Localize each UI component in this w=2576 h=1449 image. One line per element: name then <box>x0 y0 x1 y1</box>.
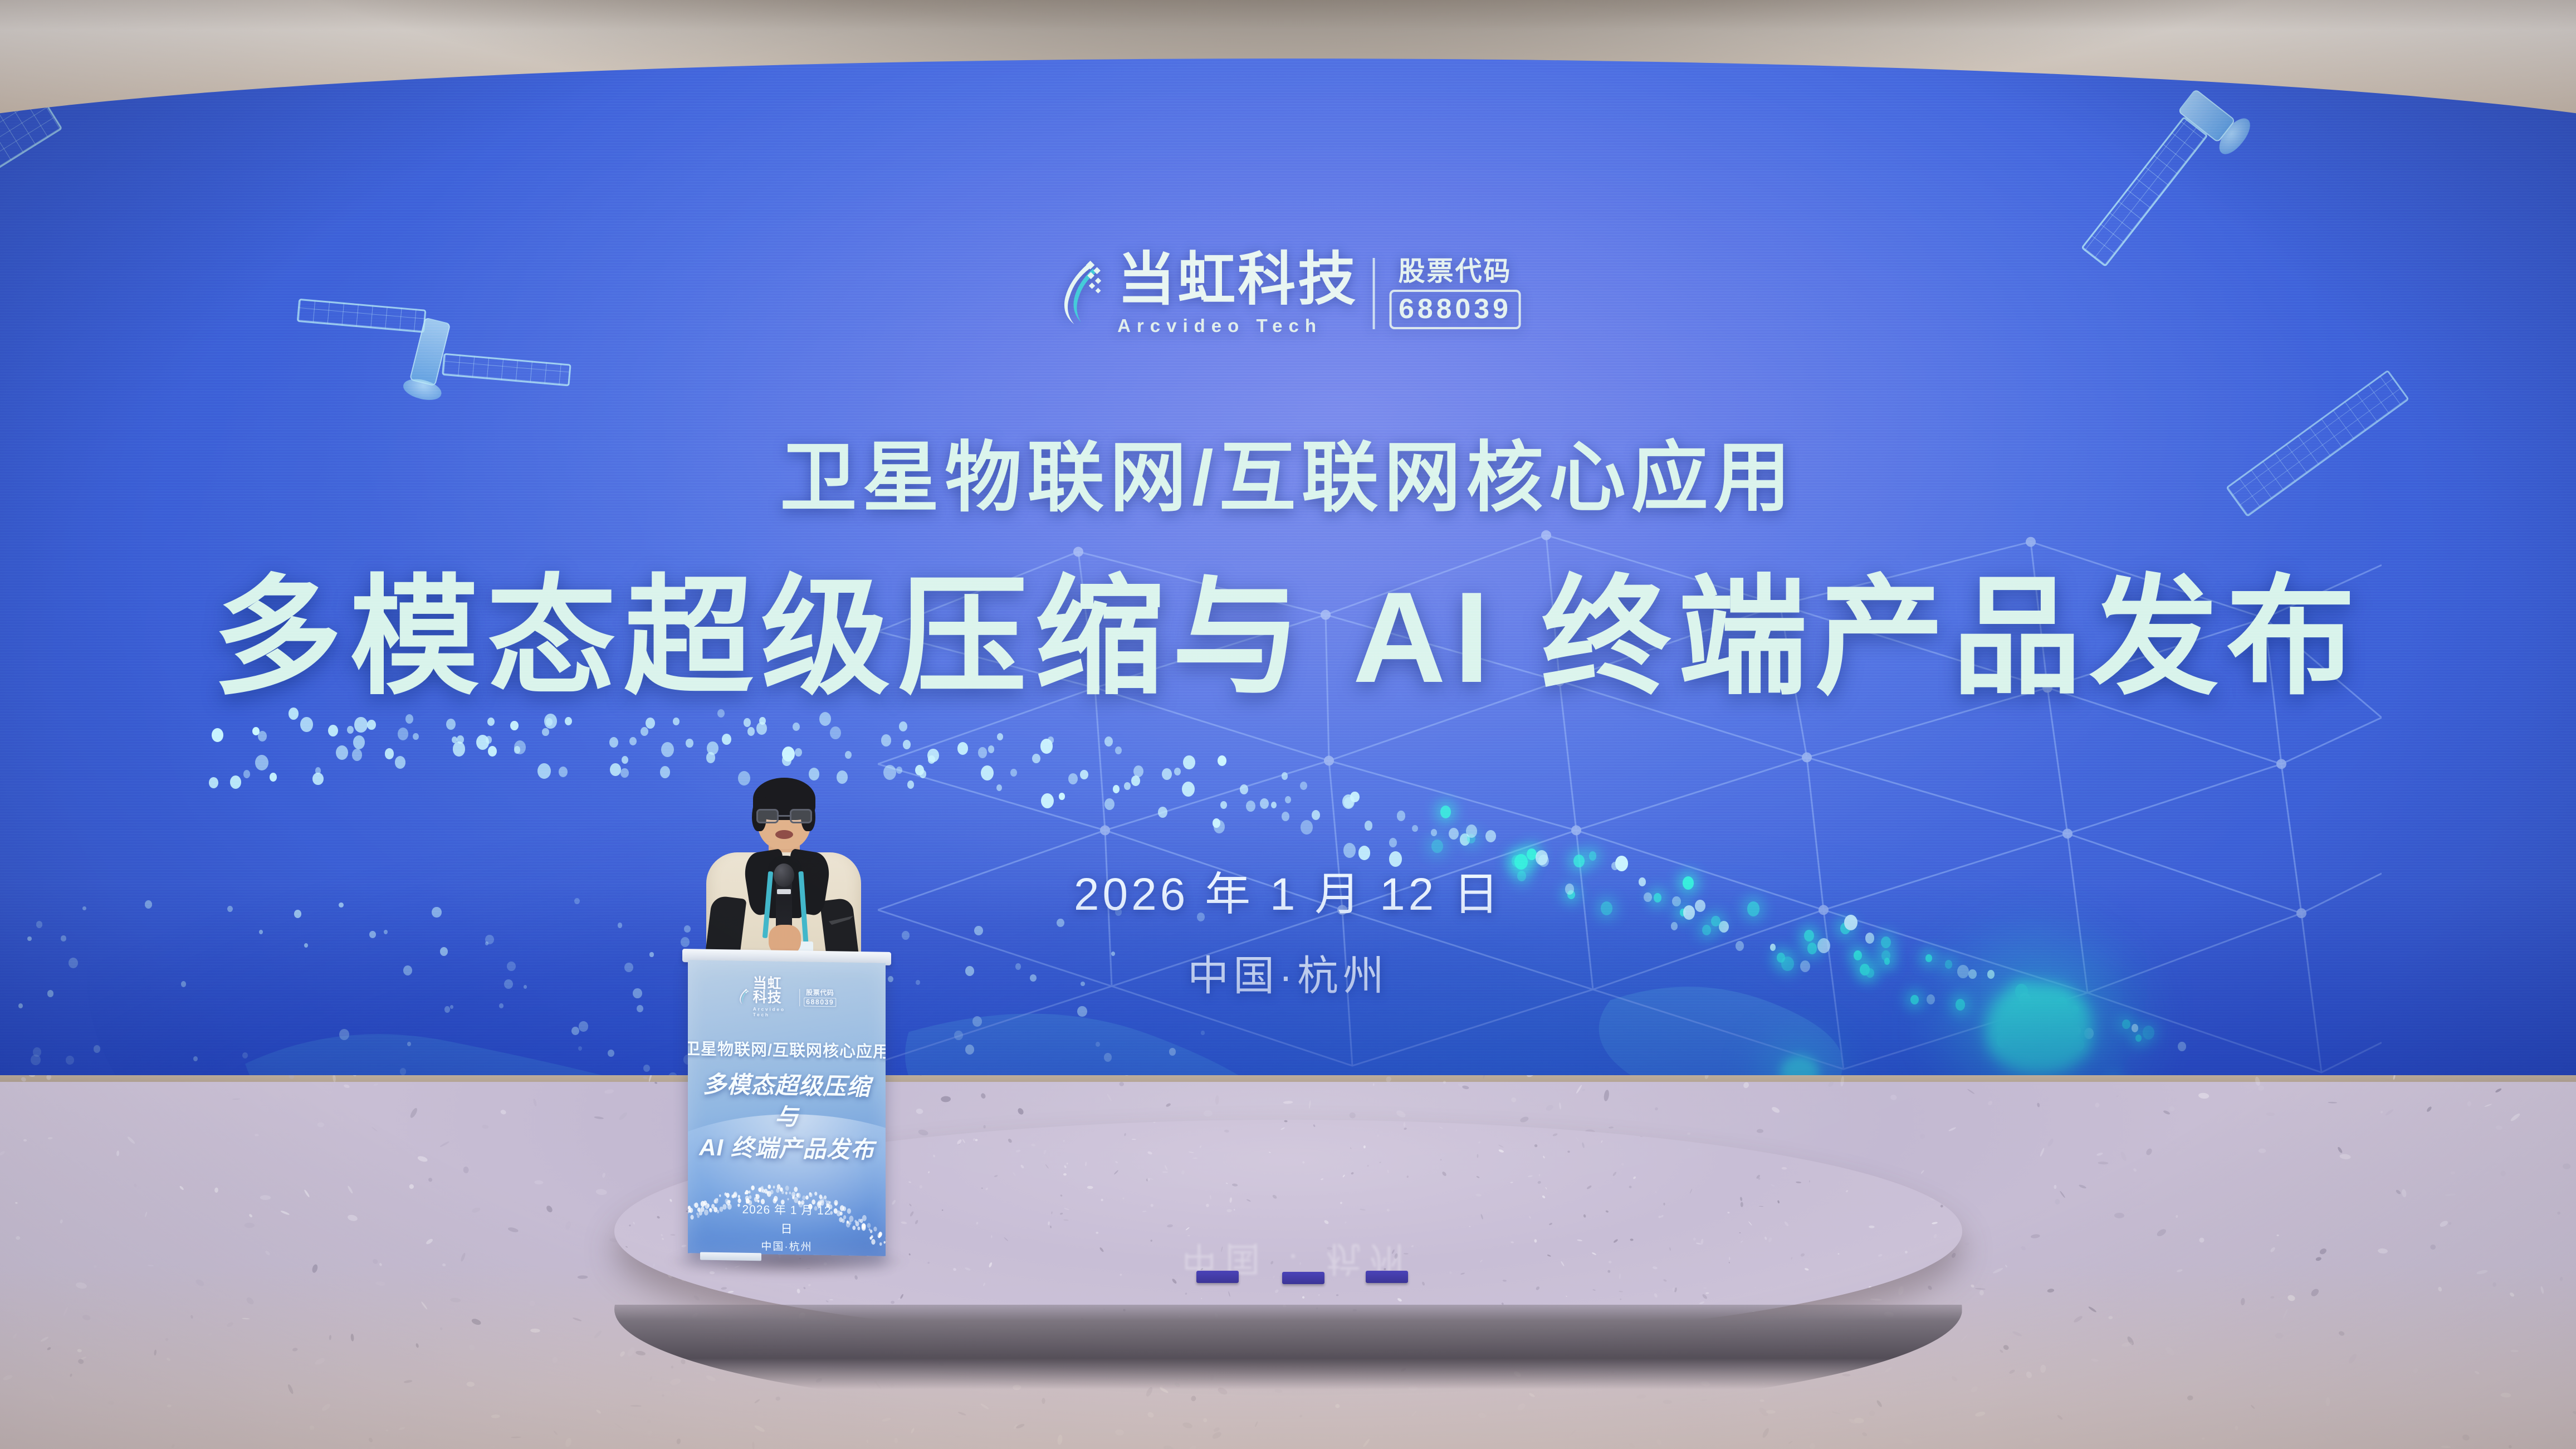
glasses-lens <box>756 809 779 823</box>
podium-foot <box>700 1252 761 1261</box>
floor-marker <box>1282 1272 1324 1284</box>
podium-headline-line1: 多模态超级压缩与 <box>692 1069 882 1134</box>
led-screen-surface: 当虹科技 Arcvideo Tech 股票代码 688039 卫星物联网/互联网… <box>0 58 2576 1114</box>
arc-swoosh-icon <box>737 989 749 1005</box>
podium-event-location: 中国·杭州 <box>737 1238 837 1255</box>
podium-brand-logo: 当虹科技 Arcvideo Tech 股票代码 688039 <box>737 977 837 1019</box>
podium-headline-line2: AI 终端产品发布 <box>692 1131 882 1166</box>
podium-event-date: 2026 年 1 月 12 日 <box>737 1201 837 1240</box>
podium-stock-code: 688039 <box>804 997 836 1007</box>
stage-photo: 当虹科技 Arcvideo Tech 股票代码 688039 卫星物联网/互联网… <box>0 0 2576 1449</box>
speaker <box>703 768 864 968</box>
led-screen: 当虹科技 Arcvideo Tech 股票代码 688039 卫星物联网/互联网… <box>0 0 2576 1114</box>
floor-marker <box>1196 1271 1239 1283</box>
glasses-icon <box>756 809 812 823</box>
podium: 当虹科技 Arcvideo Tech 股票代码 688039 卫星物联网/互联网… <box>688 958 886 1256</box>
podium-meta: 2026 年 1 月 12 日 中国·杭州 <box>737 1201 837 1255</box>
floor-marker <box>1366 1271 1408 1283</box>
podium-headline: 多模态超级压缩与 AI 终端产品发布 <box>692 1069 882 1165</box>
podium-brand-name-cn: 当虹科技 <box>753 977 795 1005</box>
microphone-band <box>777 889 791 894</box>
podium-logo-divider <box>799 989 800 1006</box>
microphone-head <box>774 863 794 887</box>
glasses-bridge <box>779 815 790 817</box>
speaker-mouth <box>775 830 793 839</box>
podium-stock-label: 股票代码 <box>806 989 834 996</box>
glasses-lens <box>790 809 812 823</box>
podium-brand-name-en: Arcvideo Tech <box>753 1006 795 1018</box>
podium-subtitle: 卫星物联网/互联网核心应用 <box>688 1036 886 1062</box>
podium-front-panel: 当虹科技 Arcvideo Tech 股票代码 688039 卫星物联网/互联网… <box>688 960 886 1256</box>
